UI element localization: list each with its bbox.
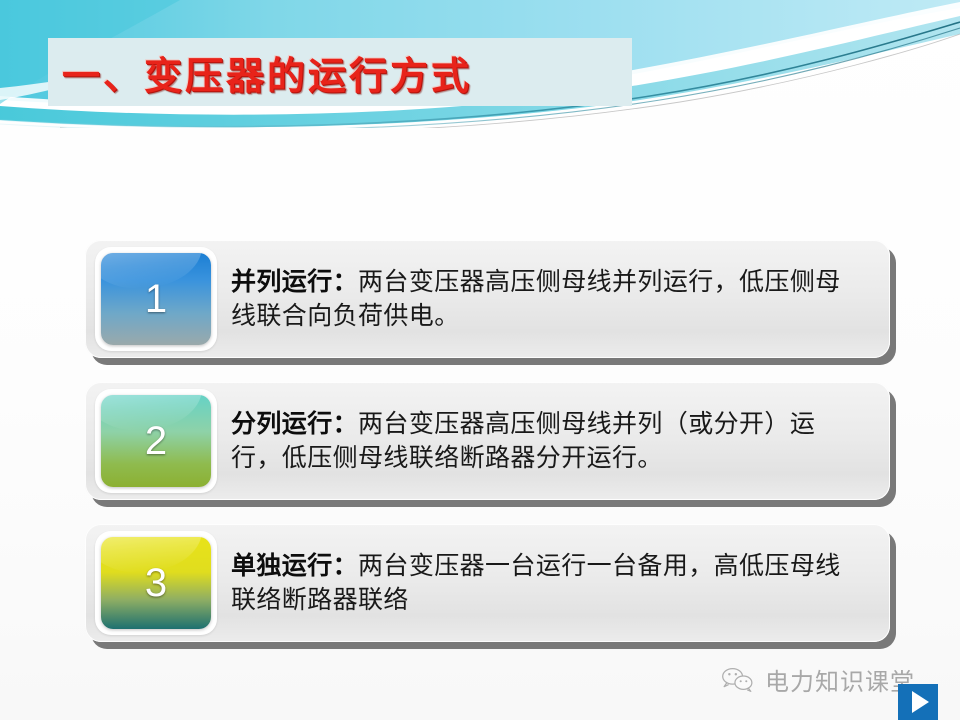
card-text-1: 并列运行：两台变压器高压侧母线并列运行，低压侧母线联合向负荷供电。 xyxy=(217,240,890,333)
slide-title-band: 一、变压器的运行方式 xyxy=(48,38,632,106)
number-badge-2: 2 xyxy=(101,395,211,487)
page-title: 一、变压器的运行方式 xyxy=(62,45,472,100)
card-label-3: 单独运行： xyxy=(231,552,358,580)
content-card-list: 1 并列运行：两台变压器高压侧母线并列运行，低压侧母线联合向负荷供电。 2 分列… xyxy=(85,240,890,642)
card-text-2: 分列运行：两台变压器高压侧母线并列（或分开）运行，低压侧母线联络断路器分开运行。 xyxy=(217,382,890,475)
number-badge-wrapper-3: 3 xyxy=(95,531,217,635)
number-badge-3: 3 xyxy=(101,537,211,629)
channel-name-label: 电力知识课堂 xyxy=(765,662,915,697)
number-badge-wrapper-1: 1 xyxy=(95,247,217,351)
play-icon xyxy=(912,691,929,713)
content-card-1[interactable]: 1 并列运行：两台变压器高压侧母线并列运行，低压侧母线联合向负荷供电。 xyxy=(85,240,890,358)
number-badge-wrapper-2: 2 xyxy=(95,389,217,493)
card-text-3: 单独运行：两台变压器一台运行一台备用，高低压母线联络断路器联络 xyxy=(217,524,890,617)
content-card-2[interactable]: 2 分列运行：两台变压器高压侧母线并列（或分开）运行，低压侧母线联络断路器分开运… xyxy=(85,382,890,500)
content-card-3[interactable]: 3 单独运行：两台变压器一台运行一台备用，高低压母线联络断路器联络 xyxy=(85,524,890,642)
slide-canvas: 一、变压器的运行方式 1 并列运行：两台变压器高压侧母线并列运行，低压侧母线联合… xyxy=(0,0,960,720)
card-label-2: 分列运行： xyxy=(231,410,358,438)
badge-number-label: 1 xyxy=(145,279,167,319)
card-label-1: 并列运行： xyxy=(231,268,358,296)
number-badge-1: 1 xyxy=(101,253,211,345)
play-button[interactable] xyxy=(898,684,938,720)
wechat-icon xyxy=(720,665,756,695)
badge-number-label: 2 xyxy=(145,421,167,461)
footer-watermark: 电力知识课堂 xyxy=(720,662,915,697)
badge-number-label: 3 xyxy=(145,563,167,603)
